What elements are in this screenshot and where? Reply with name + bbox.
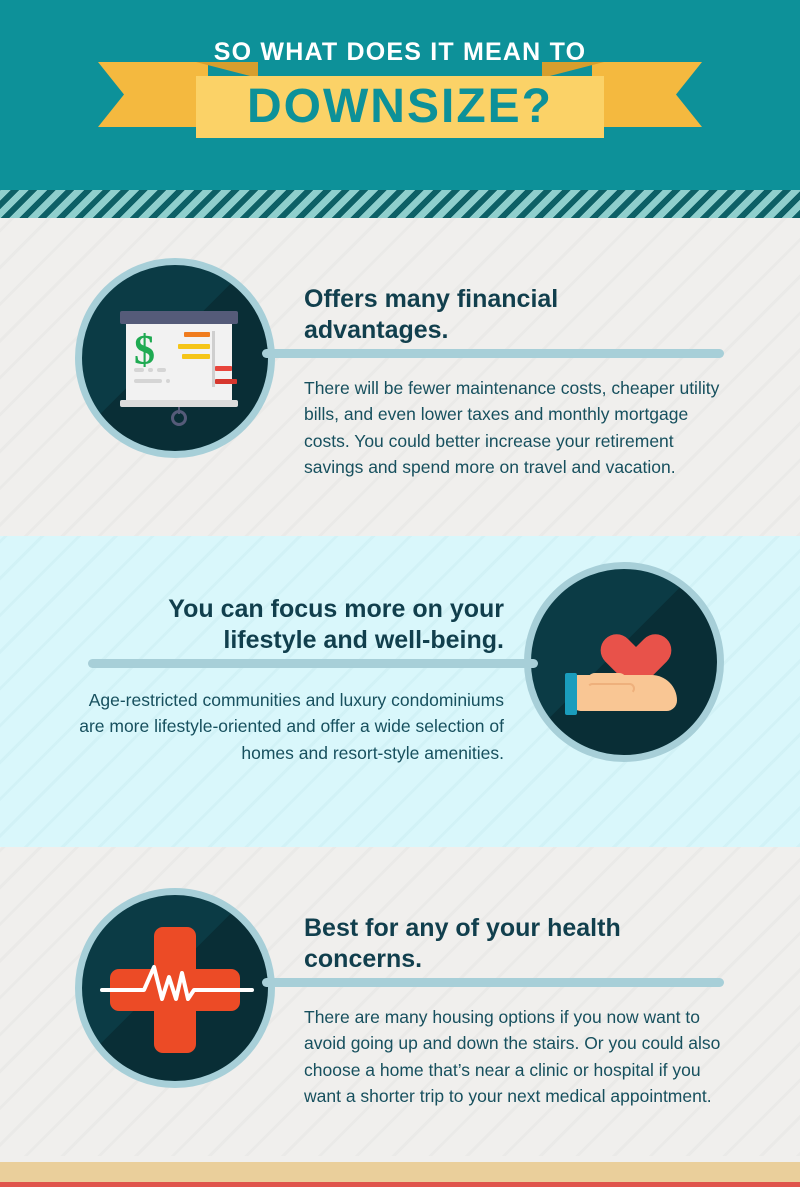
section-lifestyle-wellbeing: You can focus more on your lifestyle and… [0, 536, 800, 847]
page-title: DOWNSIZE? [247, 83, 553, 131]
presentation-chart-dollar-icon: $ [75, 258, 275, 458]
heartbeat-line-icon [98, 955, 256, 1015]
section-rule [262, 349, 724, 358]
section-financial-advantages: $ Offers many [0, 218, 800, 536]
section-heading: Offers many financial advantages. [304, 284, 704, 345]
section-rule [262, 978, 724, 987]
section-health-concerns: Best for any of your health concerns. Th… [0, 847, 800, 1156]
section-body: There are many housing options if you no… [304, 1004, 729, 1109]
section-body: There will be fewer maintenance costs, c… [304, 375, 729, 480]
heart-shape [589, 613, 651, 671]
section-heading: Best for any of your health concerns. [304, 913, 704, 974]
hand-heart-graphic [559, 613, 689, 725]
infographic-page: SO WHAT DOES IT MEAN TO DOWNSIZE? $ [0, 0, 800, 1187]
footer-red-band [0, 1182, 800, 1187]
striped-divider [0, 190, 800, 218]
section-body: Age-restricted communities and luxury co… [70, 687, 504, 766]
ribbon-tail-right [592, 62, 702, 127]
sleeve-cuff [565, 673, 577, 715]
hand-holding-heart-icon [524, 562, 724, 762]
ribbon-graphic: DOWNSIZE? [98, 62, 702, 138]
presentation-board-graphic: $ [118, 311, 240, 423]
section-heading: You can focus more on your lifestyle and… [104, 594, 504, 655]
medical-cross-graphic [110, 927, 240, 1057]
section-rule [88, 659, 538, 668]
footer-tan-band [0, 1162, 800, 1182]
header-banner: SO WHAT DOES IT MEAN TO DOWNSIZE? [0, 0, 800, 190]
medical-cross-heartbeat-icon [75, 888, 275, 1088]
ribbon-tail-left [98, 62, 208, 127]
ribbon-band: DOWNSIZE? [196, 76, 604, 138]
dollar-sign-glyph: $ [134, 330, 155, 372]
